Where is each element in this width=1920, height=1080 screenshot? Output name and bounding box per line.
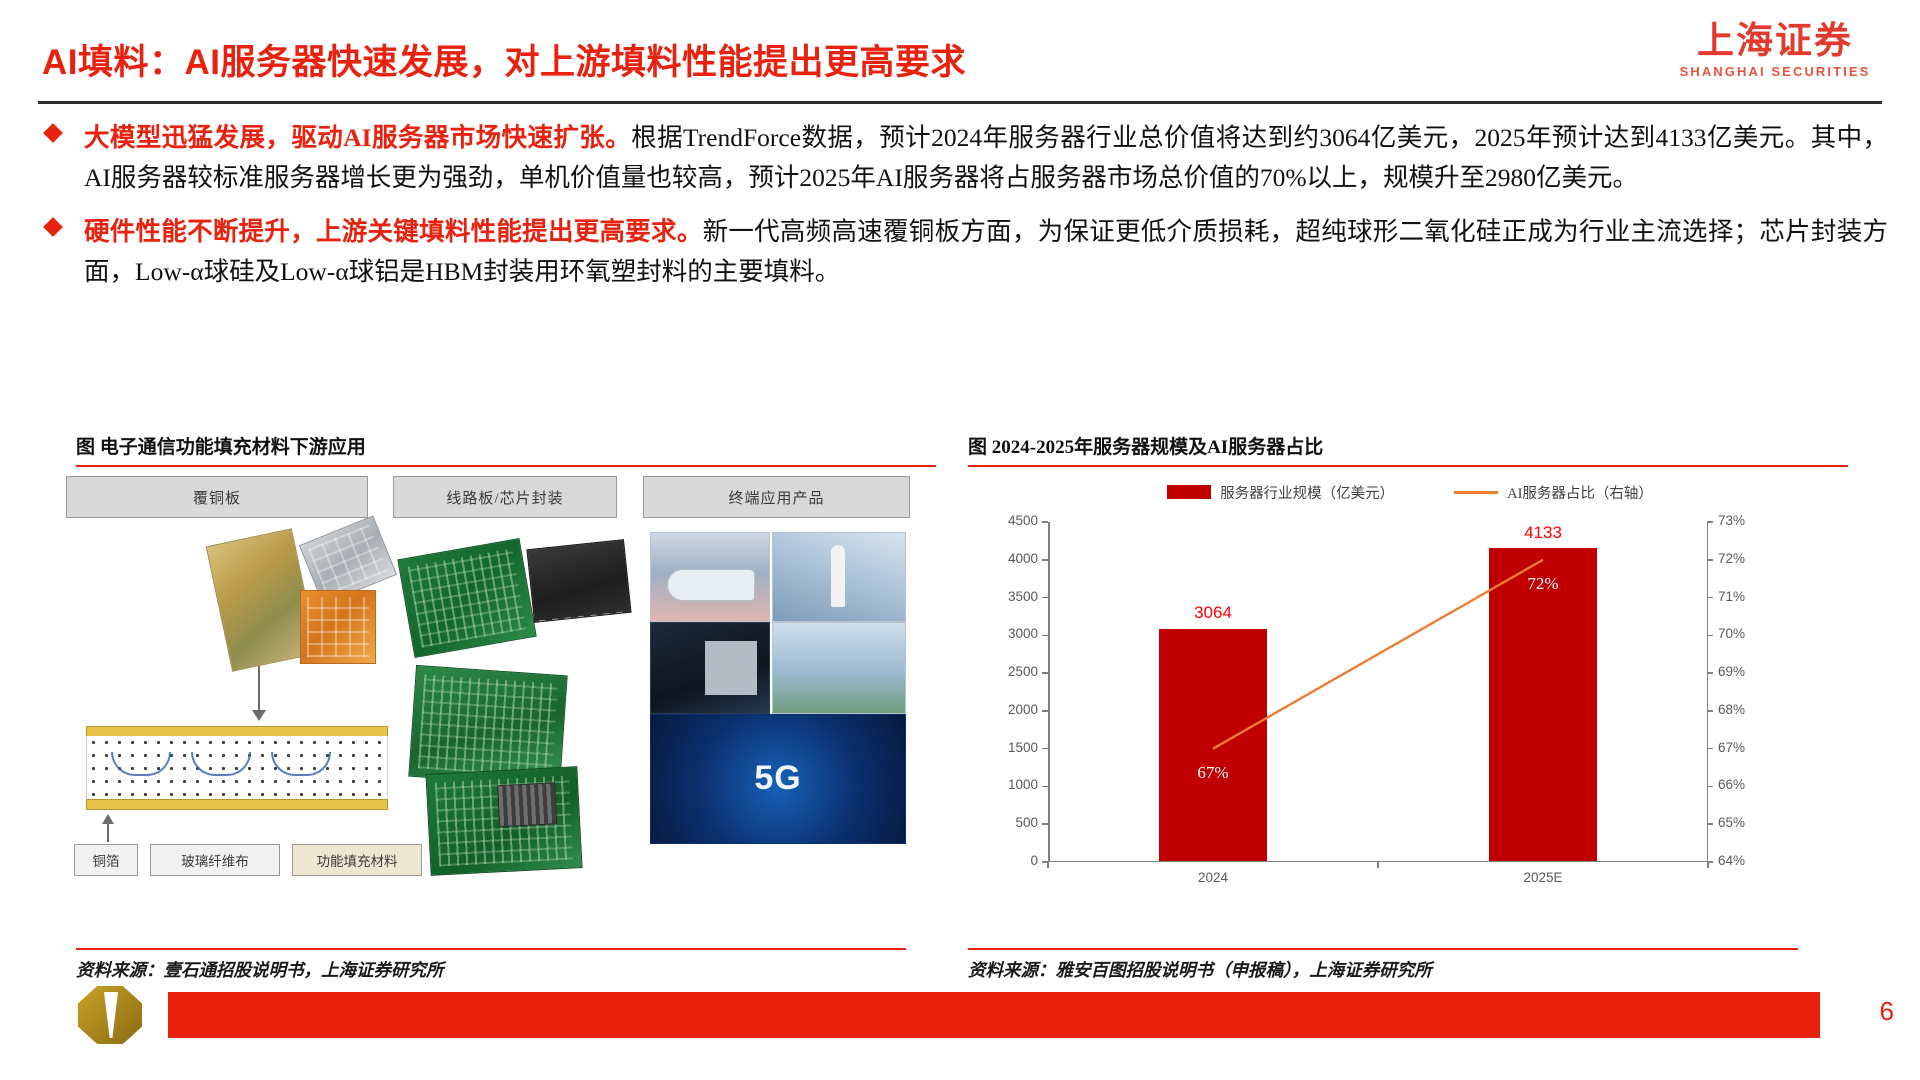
pcb-trace-pattern [408,548,527,647]
legend-label: 功能填充材料 [317,850,398,870]
category-label: 终端应用产品 [728,487,824,508]
y-tick-label-left: 4500 [1008,513,1038,528]
chip-grid-pattern [308,524,388,595]
y-tick-label-left: 2000 [1008,702,1038,717]
pcb-photo-green [397,538,536,658]
y-tick-label-right: 72% [1718,551,1745,566]
header-divider [38,101,1882,104]
y-tick-label-right: 71% [1718,589,1745,604]
y-tick-label-right: 70% [1718,626,1745,641]
y-tick-label-right: 73% [1718,513,1745,528]
y-tick-label-right: 64% [1718,853,1745,868]
y-tick-label-left: 1500 [1008,740,1038,755]
y-tick-label-right: 68% [1718,702,1745,717]
chart-plot-area: 050010001500200025003000350040004500 64%… [1048,522,1708,862]
x-tick-mark [1707,861,1709,868]
bullet-lead: 硬件性能不断提升，上游关键填料性能提出更高要求。 [84,217,703,246]
resin-filler-layer [86,736,388,798]
y-tick-label-right: 69% [1718,664,1745,679]
y-tick-label-left: 2500 [1008,664,1038,679]
y-tick-label-left: 1000 [1008,777,1038,792]
right-figure-underline [968,465,1848,467]
heatsink-icon [497,782,557,827]
y-tick-label-left: 0 [1030,853,1038,868]
left-source-text: 资料来源：壹石通招股说明书，上海证券研究所 [76,950,906,982]
page-title: AI填料：AI服务器快速发展，对上游填料性能提出更高要求 [42,34,966,85]
legend-box-copper-foil: 铜箔 [74,844,138,876]
downstream-application-diagram: 覆铜板 线路板/芯片封装 终端应用产品 铜箔 玻璃纤维布 功能填充材料 [60,470,940,940]
ccl-photo-orange [300,590,376,664]
ai-share-trend-line [1213,560,1543,749]
right-figure-title: 图 2024-2025年服务器规模及AI服务器占比 [968,432,1848,465]
down-arrow-line [258,666,260,712]
x-tick-mark [1047,861,1049,868]
bullet-item: 大模型迅猛发展，驱动AI服务器市场快速扩张。根据TrendForce数据，预计2… [40,118,1888,198]
bullet-list: 大模型迅猛发展，驱动AI服务器市场快速扩张。根据TrendForce数据，预计2… [40,118,1888,306]
legend-label-line: AI服务器占比（右轴） [1507,482,1653,503]
x-tick-mark [1377,861,1379,868]
legend-item-bar: 服务器行业规模（亿美元） [1167,482,1394,503]
diamond-bullet-icon [43,217,63,237]
end-product-photo-coastal [772,622,906,714]
page-number: 6 [1880,996,1894,1027]
legend-label: 玻璃纤维布 [181,850,249,870]
chip-grid-pattern [307,597,369,657]
y-tick-label-left: 500 [1015,815,1038,830]
legend-box-glass-cloth: 玻璃纤维布 [150,844,280,876]
x-tick-label: 2025E [1523,870,1562,885]
y-tick-label-right: 66% [1718,777,1745,792]
pcb-trace-pattern [418,674,558,777]
legend-swatch-bar-icon [1167,485,1211,499]
y-tick-label-left: 3500 [1008,589,1038,604]
brand-logo-en: SHANGHAI SECURITIES [1660,64,1890,79]
legend-label-bar: 服务器行业规模（亿美元） [1220,482,1394,503]
y-tick-label-left: 4000 [1008,551,1038,566]
diamond-bullet-icon [43,123,63,143]
laminate-cross-section [86,726,386,812]
left-source-block: 资料来源：壹石通招股说明书，上海证券研究所 [76,948,906,982]
category-box-pcb: 线路板/芯片封装 [393,476,617,518]
left-figure-title: 图 电子通信功能填充材料下游应用 [76,432,936,465]
trend-line-svg [1048,522,1708,862]
legend-swatch-line-icon [1454,491,1498,494]
category-box-end-products: 终端应用产品 [643,476,910,518]
footer-emblem [74,982,148,1048]
x-tick-label: 2024 [1198,870,1228,885]
chip-pins [539,611,628,623]
category-label: 覆铜板 [193,487,241,508]
copper-foil-layer-bottom [86,799,388,810]
chip-package-photo [526,539,631,623]
brand-logo: 上海证券 SHANGHAI SECURITIES [1660,22,1890,79]
left-figure-underline [76,465,936,467]
right-source-text: 资料来源：雅安百图招股说明书（申报稿），上海证券研究所 [968,950,1798,982]
end-product-photo-train [650,532,770,622]
server-market-chart: 服务器行业规模（亿美元） AI服务器占比（右轴） 050010001500200… [960,470,1860,940]
legend-label: 铜箔 [93,850,120,870]
legend-item-line: AI服务器占比（右轴） [1454,482,1653,503]
left-figure-caption: 图 电子通信功能填充材料下游应用 [76,432,936,467]
right-source-block: 资料来源：雅安百图招股说明书（申报稿），上海证券研究所 [968,948,1798,982]
end-product-photo-server [650,622,770,714]
bullet-lead: 大模型迅猛发展，驱动AI服务器市场快速扩张。 [84,123,631,152]
bullet-text: 大模型迅猛发展，驱动AI服务器市场快速扩张。根据TrendForce数据，预计2… [84,118,1888,198]
brand-logo-cn: 上海证券 [1660,22,1890,61]
right-figure-caption: 图 2024-2025年服务器规模及AI服务器占比 [968,432,1848,467]
bullet-item: 硬件性能不断提升，上游关键填料性能提出更高要求。新一代高频高速覆铜板方面，为保证… [40,212,1888,292]
up-arrow-line [107,822,109,842]
legend-box-functional-filler: 功能填充材料 [292,844,422,876]
pcb-photo-green-3 [425,766,582,876]
bullet-text: 硬件性能不断提升，上游关键填料性能提出更高要求。新一代高频高速覆铜板方面，为保证… [84,212,1888,292]
end-product-photo-5g: 5G [650,714,906,844]
chart-legend: 服务器行业规模（亿美元） AI服务器占比（右轴） [960,480,1860,504]
train-shape [667,569,755,601]
y-tick-label-right: 65% [1718,815,1745,830]
y-tick-label-left: 3000 [1008,626,1038,641]
rocket-shape [831,545,845,607]
down-arrow-icon [252,710,266,721]
y-tick-label-right: 67% [1718,740,1745,755]
five-g-label: 5G [651,759,905,798]
footer-bar [168,992,1820,1038]
server-rack-shape [705,641,757,695]
category-box-ccl: 覆铜板 [66,476,368,518]
category-label: 线路板/芯片封装 [446,487,563,508]
slide-header: AI填料：AI服务器快速发展，对上游填料性能提出更高要求 上海证券 SHANGH… [0,0,1920,108]
end-product-photo-rocket [772,532,906,622]
